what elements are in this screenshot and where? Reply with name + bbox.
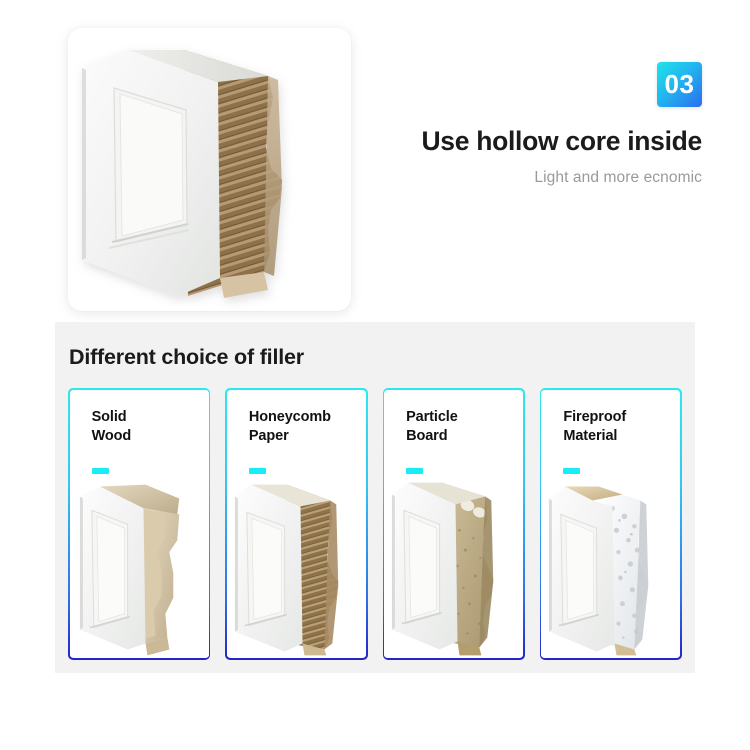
card-inner: Solid Wood: [70, 390, 209, 659]
card-accent-dash: [92, 468, 109, 474]
card-label-honeycomb-paper: Honeycomb Paper: [249, 408, 331, 446]
panel-title: Different choice of filler: [69, 345, 304, 370]
step-number-badge: 03: [657, 62, 702, 107]
card-label-line1: Fireproof: [563, 408, 626, 427]
particle-board-core-image: [384, 478, 523, 658]
filler-card-honeycomb-paper[interactable]: Honeycomb Paper: [225, 388, 367, 660]
hero-title: Use hollow core inside: [392, 126, 702, 156]
card-label-solid-wood: Solid Wood: [92, 408, 132, 446]
card-label-line1: Particle: [406, 408, 458, 427]
card-accent-dash: [249, 468, 266, 474]
card-label-line2: Paper: [249, 427, 331, 446]
hero-image-card: [68, 28, 351, 311]
card-inner: Honeycomb Paper: [227, 390, 366, 659]
solid-wood-core-image: [70, 478, 209, 658]
card-accent-dash: [563, 468, 580, 474]
filler-card-particle-board[interactable]: Particle Board: [383, 388, 525, 660]
honeycomb-paper-core-image: [227, 478, 366, 658]
filler-card-solid-wood[interactable]: Solid Wood: [68, 388, 210, 660]
card-accent-dash: [406, 468, 423, 474]
card-label-line2: Material: [563, 427, 626, 446]
card-inner: Particle Board: [384, 390, 523, 659]
card-label-line2: Wood: [92, 427, 132, 446]
hero-door-section-image: [68, 28, 351, 311]
hero-text-block: 03 Use hollow core inside Light and more…: [392, 62, 702, 187]
card-inner: Fireproof Material: [541, 390, 680, 659]
card-label-fireproof-material: Fireproof Material: [563, 408, 626, 446]
filler-card-list: Solid Wood: [68, 388, 682, 660]
hero-subtitle: Light and more ecnomic: [392, 169, 702, 187]
filler-card-fireproof-material[interactable]: Fireproof Material: [540, 388, 682, 660]
filler-options-panel: Different choice of filler Solid Wood: [55, 322, 695, 673]
card-label-line1: Solid: [92, 408, 132, 427]
fireproof-material-core-image: [541, 478, 680, 658]
card-label-line1: Honeycomb: [249, 408, 331, 427]
card-label-particle-board: Particle Board: [406, 408, 458, 446]
card-label-line2: Board: [406, 427, 458, 446]
